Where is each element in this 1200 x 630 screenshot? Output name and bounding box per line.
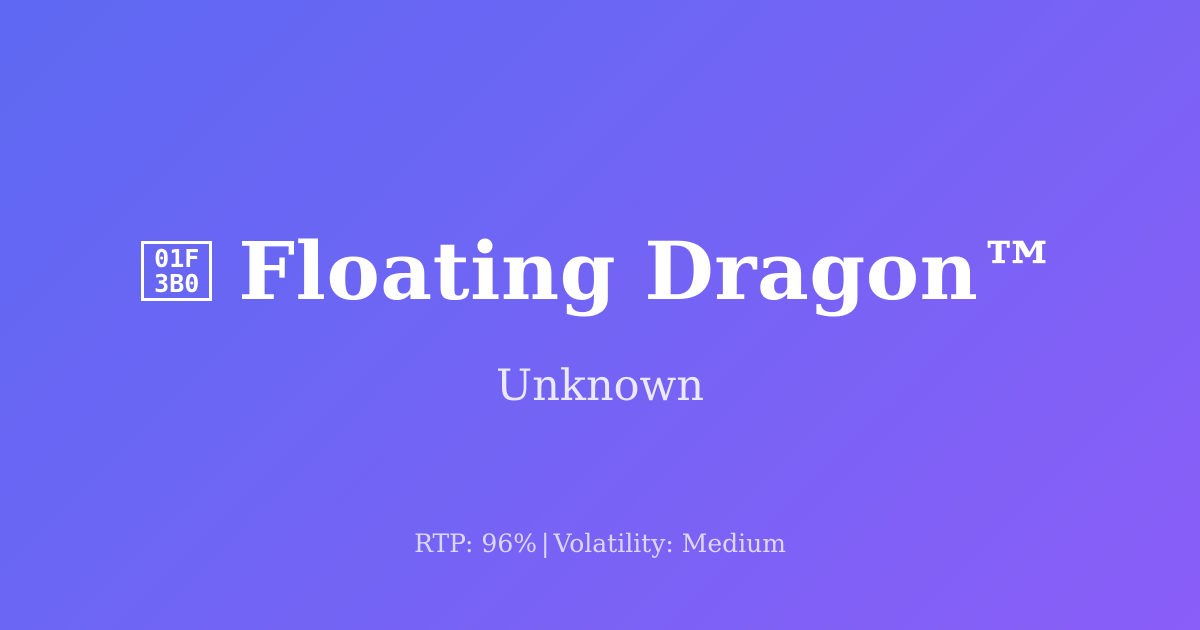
game-promo-card: 01F 3B0 Floating Dragon™ Unknown RTP: 96… — [0, 0, 1200, 630]
slot-machine-emoji-missing-glyph-icon: 01F 3B0 — [141, 241, 212, 301]
provider-subtitle: Unknown — [0, 360, 1200, 412]
stats-separator: | — [537, 529, 553, 558]
codepoint-bottom: 3B0 — [154, 271, 199, 296]
rtp-value: RTP: 96% — [414, 529, 537, 558]
page-title: Floating Dragon™ — [238, 228, 1059, 314]
game-stats: RTP: 96%|Volatility: Medium — [0, 528, 1200, 560]
title-row: 01F 3B0 Floating Dragon™ — [0, 228, 1200, 314]
codepoint-top: 01F — [154, 246, 199, 271]
volatility-value: Volatility: Medium — [553, 529, 785, 558]
